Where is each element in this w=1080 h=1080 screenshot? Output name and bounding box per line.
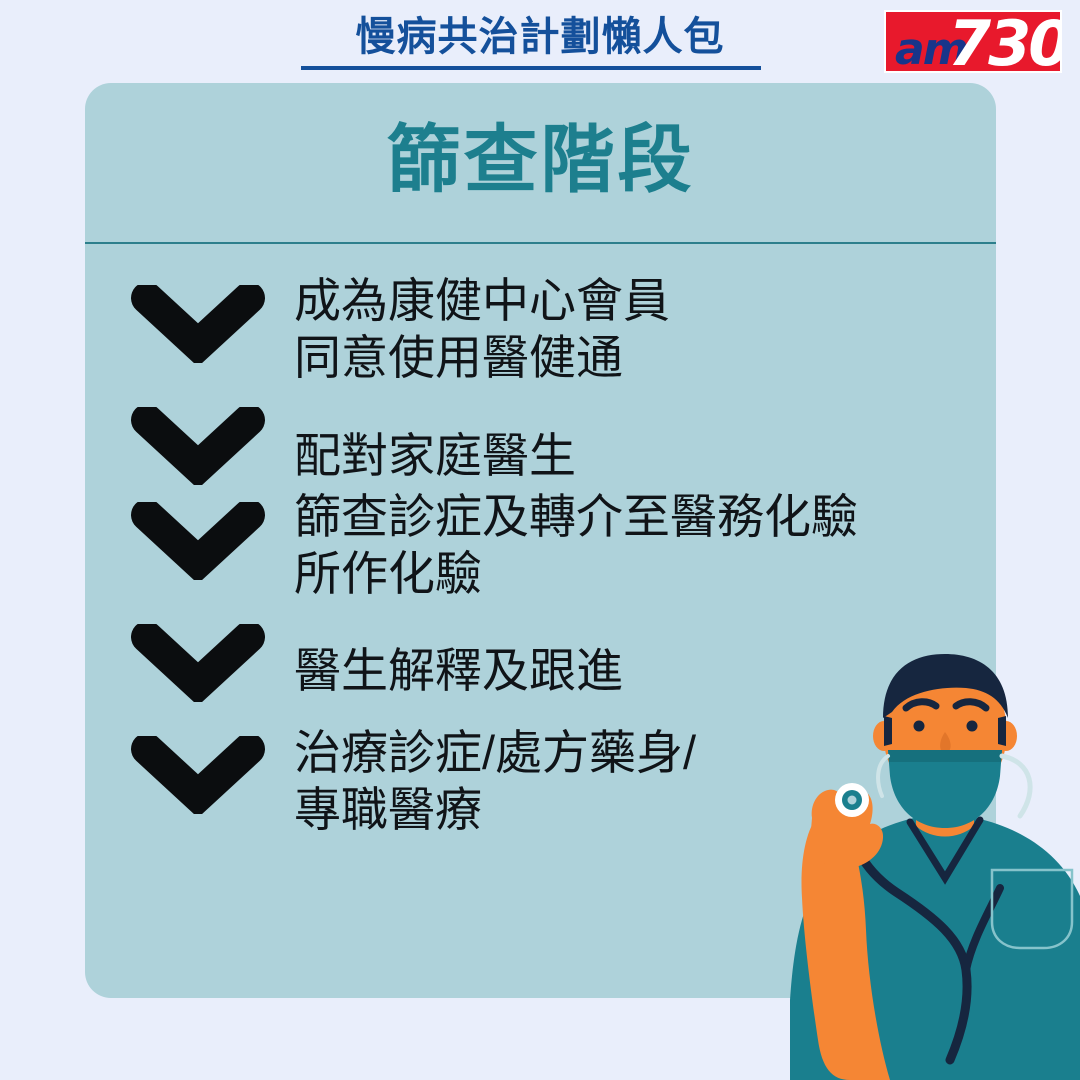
list-item-label: 篩查診症及轉介至醫務化驗 所作化驗 (294, 488, 996, 602)
title-underline (301, 66, 761, 70)
mask-strap-left (878, 756, 888, 796)
card-heading: 篩查階段 (85, 117, 996, 203)
eye-right (967, 721, 978, 732)
chevron-down-icon (130, 736, 266, 814)
list-item: 篩查診症及轉介至醫務化驗 所作化驗 (85, 488, 996, 602)
card-divider (85, 242, 996, 244)
logo-730-text: 730 (948, 13, 1062, 73)
mask-strap-right (1002, 756, 1030, 816)
sideburn-right (998, 716, 1006, 746)
page-header: 慢病共治計劃懶人包 am 730 (0, 0, 1080, 84)
logo-inner: am 730 (886, 12, 1060, 71)
list-item-label: 成為康健中心會員 同意使用醫健通 (294, 272, 996, 386)
list-item-label: 配對家庭醫生 (294, 427, 996, 484)
chevron-down-icon (130, 624, 266, 702)
eye-left (914, 721, 925, 732)
mask-top-band (888, 750, 1002, 762)
doctor-illustration (700, 640, 1080, 1080)
chevron-down-icon (130, 502, 266, 580)
am730-logo: am 730 (884, 10, 1062, 73)
list-item: 配對家庭醫生 (85, 407, 996, 485)
stethoscope-center (848, 796, 857, 805)
chevron-down-icon (130, 407, 266, 485)
infographic-page: 慢病共治計劃懶人包 am 730 篩查階段 成為康健中心會員 同意使用醫健通 (0, 0, 1080, 1080)
list-item: 成為康健中心會員 同意使用醫健通 (85, 272, 996, 386)
chevron-down-icon (130, 285, 266, 363)
sideburn-left (884, 716, 892, 746)
